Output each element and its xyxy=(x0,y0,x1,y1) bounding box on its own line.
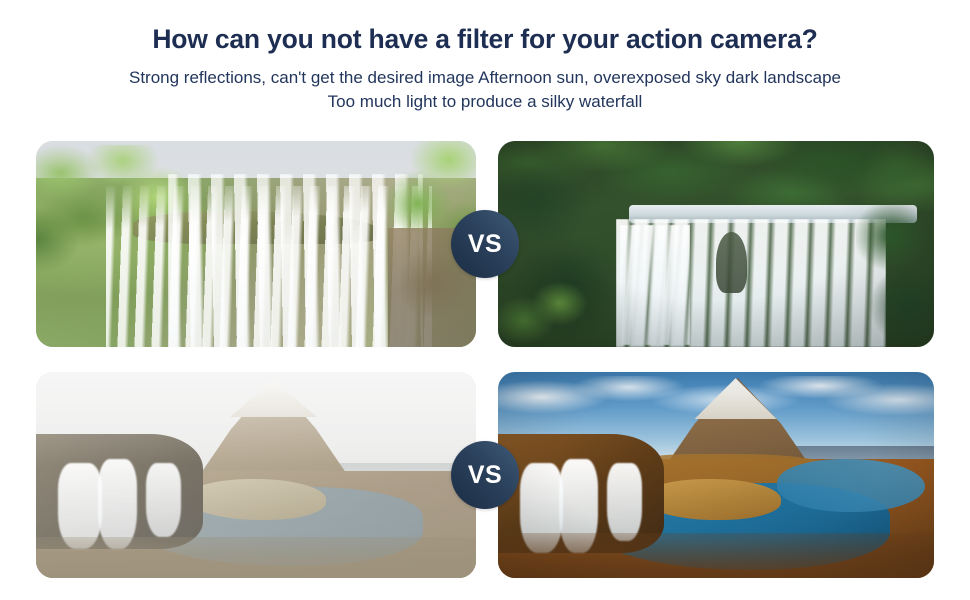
scene-waterfall-filtered xyxy=(498,141,934,347)
subhead-line-1: Strong reflections, can't get the desire… xyxy=(40,66,930,90)
photo-card-kirkjufell-unfiltered xyxy=(36,372,476,578)
vs-badge: VS xyxy=(451,210,519,278)
comparison-grid: VS xyxy=(36,141,934,578)
vs-badge: VS xyxy=(451,441,519,509)
vignette xyxy=(498,372,934,578)
photo-card-waterfall-filtered xyxy=(498,141,934,347)
overexposure-wash xyxy=(36,372,476,578)
scene-kirkjufell-filtered xyxy=(498,372,934,578)
banner-header: How can you not have a filter for your a… xyxy=(0,0,970,114)
kirkjufell-comparison-row: VS xyxy=(36,372,934,578)
scene-kirkjufell-unfiltered xyxy=(36,372,476,578)
vs-badge-label: VS xyxy=(468,232,502,257)
overexposure-haze xyxy=(36,141,476,347)
product-feature-banner: How can you not have a filter for your a… xyxy=(0,0,970,600)
page-title: How can you not have a filter for your a… xyxy=(0,24,970,56)
photo-card-kirkjufell-filtered xyxy=(498,372,934,578)
waterfall-comparison-row: VS xyxy=(36,141,934,347)
banner-subhead: Strong reflections, can't get the desire… xyxy=(0,66,970,114)
vignette xyxy=(498,141,934,347)
photo-card-waterfall-unfiltered xyxy=(36,141,476,347)
scene-waterfall-unfiltered xyxy=(36,141,476,347)
subhead-line-2: Too much light to produce a silky waterf… xyxy=(40,90,930,114)
vs-badge-label: VS xyxy=(468,463,502,488)
